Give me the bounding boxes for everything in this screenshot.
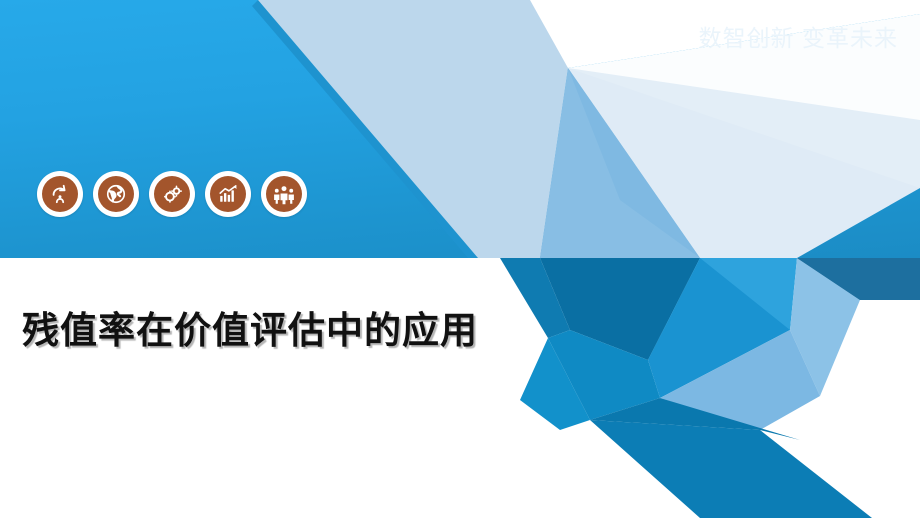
icon-badge-people[interactable]: [261, 171, 307, 217]
bar-chart-icon: [210, 176, 246, 212]
poly-tail: [590, 420, 872, 518]
poly-pale-lower-right: [790, 258, 860, 396]
gears-icon: [154, 176, 190, 212]
slide-tagline: 数智创新 变革未来: [699, 27, 898, 50]
page-title: 残值率在价值评估中的应用: [22, 300, 478, 354]
people-group-icon: [266, 176, 302, 212]
poly-deep-left-top: [500, 258, 570, 338]
title-slide: 数智创新 变革未来: [0, 0, 920, 518]
icon-badge-globe[interactable]: [93, 171, 139, 217]
poly-bright-right: [648, 258, 797, 360]
icon-badge-recycle[interactable]: [37, 171, 83, 217]
poly-bright-right-b: [648, 258, 790, 398]
poly-tail-edge: [590, 398, 800, 440]
icon-badge-bar-chart[interactable]: [205, 171, 251, 217]
poly-notch: [520, 338, 590, 430]
icon-badge-gears[interactable]: [149, 171, 195, 217]
poly-deep-right-wing: [797, 258, 920, 300]
recycle-person-icon: [42, 176, 78, 212]
poly-deep-right-wing-b: [797, 258, 920, 300]
poly-deep-left: [540, 258, 700, 360]
icon-row: [37, 171, 307, 217]
poly-bright-mid: [548, 330, 660, 420]
poly-pale-lower-right-b: [660, 330, 820, 430]
globe-icon: [98, 176, 134, 212]
